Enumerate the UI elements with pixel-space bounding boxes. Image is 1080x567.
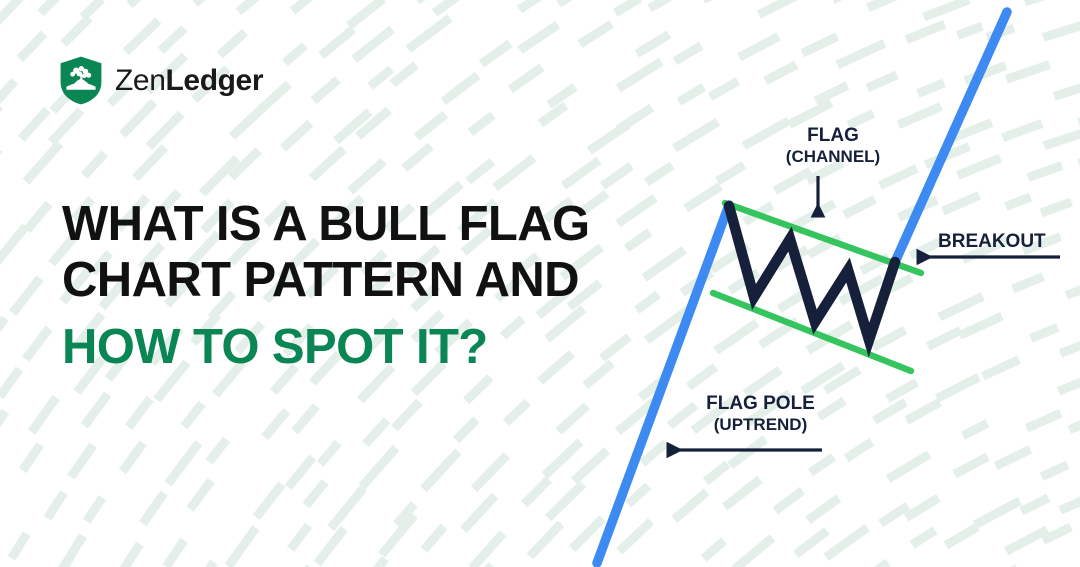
page-title: WHAT IS A BULL FLAG CHART PATTERN AND HO… [62,196,672,375]
annotation-flag-pole: FLAG POLE (UPTREND) [673,392,848,436]
annotation-flag-sublabel: (CHANNEL) [758,147,908,168]
poster-canvas: ZenLedger WHAT IS A BULL FLAG CHART PATT… [0,0,1080,567]
brand-wordmark: ZenLedger [115,66,263,96]
annotation-flag-label: FLAG [758,124,908,147]
annotation-flagpole-label: FLAG POLE [673,392,848,415]
brand-name-part2: Ledger [166,64,264,97]
annotation-breakout-label: BREAKOUT [938,230,1058,253]
brand-logo[interactable]: ZenLedger [60,56,263,105]
headline-line-3: HOW TO SPOT IT? [62,319,672,375]
annotation-flag: FLAG (CHANNEL) [758,124,908,168]
annotation-flagpole-sublabel: (UPTREND) [673,415,848,436]
headline-line-1: WHAT IS A BULL FLAG [62,196,672,252]
headline-line-2: CHART PATTERN AND [62,252,672,308]
shield-tree-icon [60,56,102,105]
series-breakout-line [895,12,1007,262]
annotation-breakout: BREAKOUT [938,230,1058,253]
series-price-action [729,206,895,340]
brand-name-part1: Zen [115,64,166,97]
